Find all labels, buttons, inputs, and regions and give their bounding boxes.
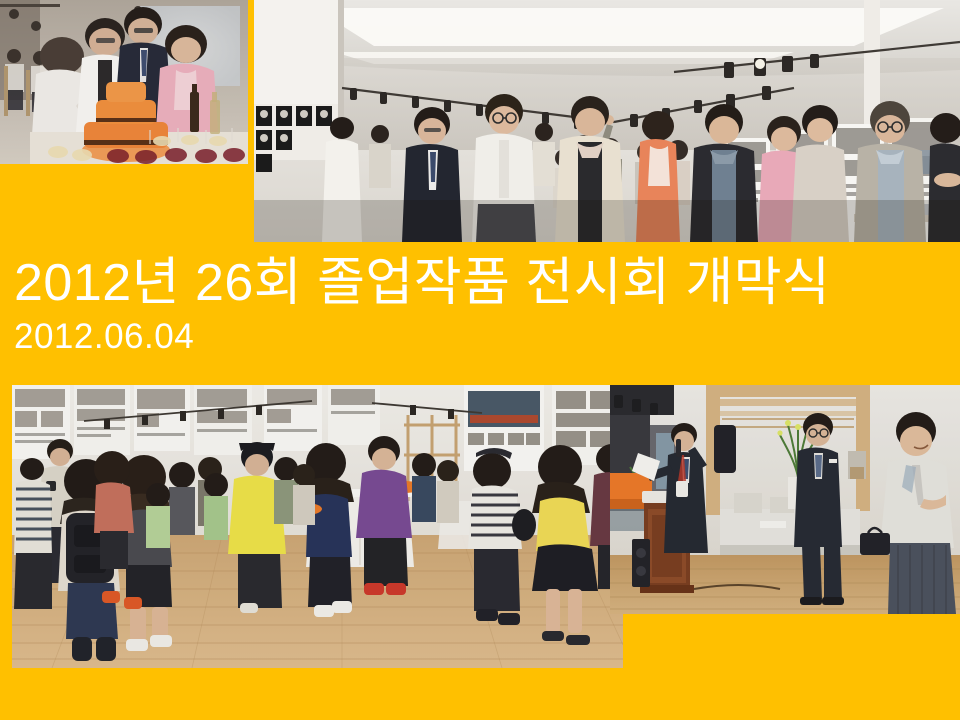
title-block: 2012년 26회 졸업작품 전시회 개막식 2012.06.04	[14, 252, 944, 358]
reception-crowd-photo	[12, 385, 623, 668]
podium-speech-photo	[610, 385, 960, 614]
slide-canvas: 2012년 26회 졸업작품 전시회 개막식 2012.06.04	[0, 0, 960, 720]
slide-date-subtitle: 2012.06.04	[14, 316, 944, 358]
slide-title: 2012년 26회 졸업작품 전시회 개막식	[14, 252, 944, 314]
group-portrait-photo	[254, 0, 960, 242]
cake-cutting-photo	[0, 0, 248, 164]
